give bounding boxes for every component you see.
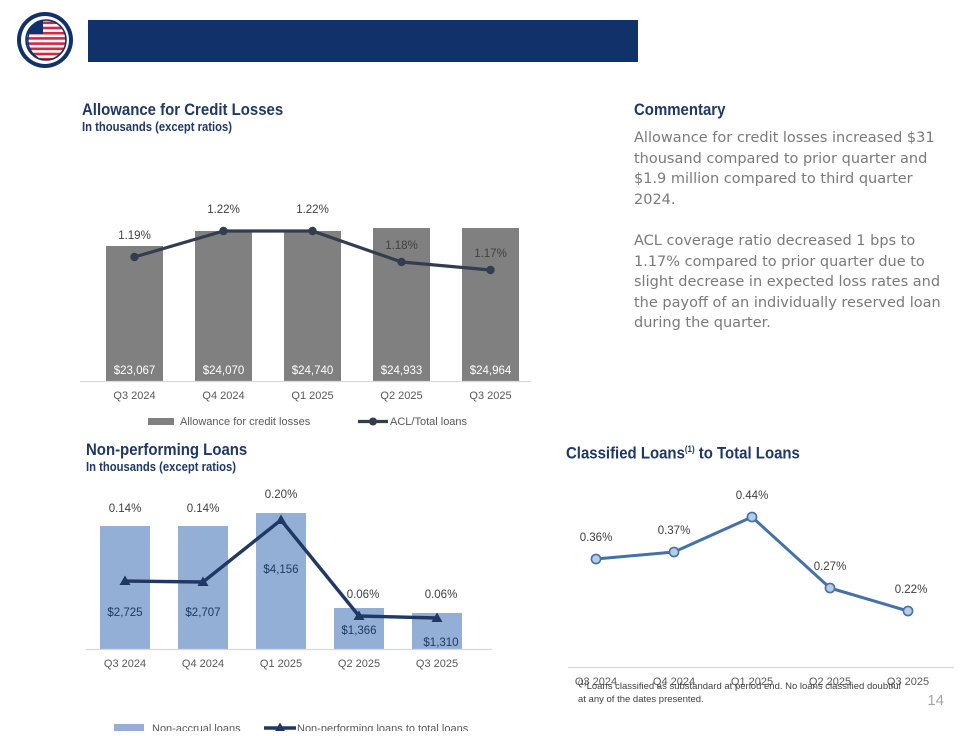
pct-label: 0.27% xyxy=(814,561,847,573)
chart-legend: Non-accrual loans Non-performing loans t… xyxy=(114,723,469,732)
bar-q3-2024 xyxy=(106,246,163,381)
commentary-panel: Commentary Allowance for credit losses i… xyxy=(634,100,954,334)
chart-legend: Allowance for credit losses ACL/Total lo… xyxy=(148,416,468,428)
x-tick-label: Q4 2024 xyxy=(182,658,224,670)
pct-label: 1.22% xyxy=(296,204,329,216)
footnote-text: Loans classified as substandard at perio… xyxy=(578,681,901,705)
footnote-marker: (1) xyxy=(578,680,587,687)
classified-ratio-markers xyxy=(591,512,912,615)
chart-subtitle: In thousands (except ratios) xyxy=(86,460,453,474)
legend-label: Non-performing loans to total loans xyxy=(297,723,469,731)
x-tick-label: Q1 2025 xyxy=(291,390,333,402)
pct-label: 0.06% xyxy=(425,589,458,601)
x-tick-label: Q4 2024 xyxy=(202,390,244,402)
bar-value-label: $24,964 xyxy=(470,365,512,377)
legend-marker xyxy=(369,418,377,426)
legend-label: ACL/Total loans xyxy=(390,416,468,428)
pct-label: 0.06% xyxy=(347,589,380,601)
american-flag-globe-logo xyxy=(12,10,78,70)
pct-label: 0.14% xyxy=(109,503,142,515)
chart-title: Classified Loans(1) to Total Loans xyxy=(566,440,909,463)
bar-value-label: $23,067 xyxy=(114,365,156,377)
commentary-paragraph-2: ACL coverage ratio decreased 1 bps to 1.… xyxy=(634,231,954,334)
pct-label: 1.17% xyxy=(474,248,507,260)
bar-q4-2024 xyxy=(195,231,252,381)
pct-label: 0.20% xyxy=(265,489,298,501)
bar-value-label: $24,933 xyxy=(381,365,423,377)
legend-swatch-bar xyxy=(148,418,174,425)
pct-label: 0.44% xyxy=(736,490,769,502)
legend-label: Allowance for credit losses xyxy=(180,416,311,428)
bar-q4-2024 xyxy=(178,526,228,649)
bar-value-label: $24,070 xyxy=(203,365,245,377)
chart-subtitle: In thousands (except ratios) xyxy=(82,120,488,134)
npl-chart-canvas: 0.14% 0.14% 0.20% 0.06% 0.06% $2,725 $2,… xyxy=(84,476,494,731)
x-tick-label: Q1 2025 xyxy=(260,658,302,670)
chart-classified-loans-to-total-loans: Classified Loans(1) to Total Loans 0.36%… xyxy=(566,440,956,706)
bar-q1-2025 xyxy=(284,231,341,381)
pct-label: 0.36% xyxy=(580,532,613,544)
bar-value-label: $24,740 xyxy=(292,365,334,377)
commentary-title: Commentary xyxy=(634,100,916,120)
acl-chart-canvas: 1.19% 1.22% 1.22% 1.18% 1.17% $23,067 $2… xyxy=(78,140,533,430)
chart-title: Allowance for Credit Losses xyxy=(82,100,479,119)
x-tick-label: Q3 2024 xyxy=(104,658,146,670)
commentary-paragraph-1: Allowance for credit losses increased $3… xyxy=(634,128,954,210)
pct-label: 0.14% xyxy=(187,503,220,515)
classified-chart-canvas: 0.36% 0.37% 0.44% 0.27% 0.22% Q3 2024 Q4… xyxy=(566,471,956,701)
header-bar xyxy=(88,20,638,62)
x-tick-label: Q3 2024 xyxy=(113,390,155,402)
pct-label: 1.22% xyxy=(207,204,240,216)
bar-value-label: $4,156 xyxy=(263,564,298,576)
footnote: (1)Loans classified as substandard at pe… xyxy=(578,678,908,706)
bar-value-label: $2,707 xyxy=(185,607,220,619)
x-tick-label: Q2 2025 xyxy=(338,658,380,670)
classified-ratio-line xyxy=(596,517,908,611)
chart-allowance-for-credit-losses: Allowance for Credit Losses In thousands… xyxy=(82,100,533,435)
chart-title: Non-performing Loans xyxy=(86,440,445,459)
chart-title-superscript: (1) xyxy=(685,444,695,454)
legend-label: Non-accrual loans xyxy=(152,723,241,731)
chart-non-performing-loans: Non-performing Loans In thousands (excep… xyxy=(86,440,494,736)
x-tick-label: Q2 2025 xyxy=(380,390,422,402)
pct-label: 0.37% xyxy=(658,525,691,537)
pct-label: 1.19% xyxy=(118,230,151,242)
bar-q3-2024 xyxy=(100,526,150,649)
bar-value-label: $1,366 xyxy=(341,625,376,637)
chart-title-tail: to Total Loans xyxy=(699,444,800,463)
x-tick-label: Q3 2025 xyxy=(469,390,511,402)
bar-value-label: $2,725 xyxy=(107,607,142,619)
legend-swatch-bar xyxy=(114,724,144,731)
chart-title-main: Classified Loans xyxy=(566,444,685,463)
bar-group xyxy=(106,228,519,381)
bar-value-label: $1,310 xyxy=(423,637,458,649)
pct-label: 1.18% xyxy=(385,240,418,252)
x-tick-label: Q3 2025 xyxy=(416,658,458,670)
pct-label: 0.22% xyxy=(895,584,928,596)
page-number: 14 xyxy=(927,692,944,709)
